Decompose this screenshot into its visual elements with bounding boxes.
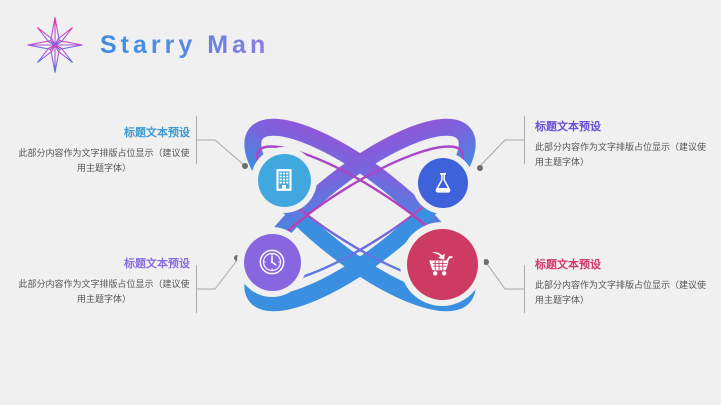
callout-title: 标题文本预设 [18,257,190,272]
callout-separator-top-left [196,116,197,164]
orbit-diagram [200,78,520,353]
office-building-icon [258,154,311,207]
callout-body: 此部分内容作为文字排版占位显示（建议使用主题字体） [535,140,707,170]
clock-icon [244,234,301,291]
presentation-slide: Starry Man [0,0,721,405]
compass-star-icon [24,14,86,76]
callout-title: 标题文本预设 [18,126,190,141]
callout-body: 此部分内容作为文字排版占位显示（建议使用主题字体） [535,278,707,308]
callout-title: 标题文本预设 [535,258,707,273]
callout-title: 标题文本预设 [535,120,707,135]
shopping-cart-icon [407,229,478,300]
node-building[interactable] [251,147,317,213]
node-clock[interactable] [237,227,307,297]
callout-separator-top-right [524,116,525,164]
lab-flask-icon [418,158,468,208]
brand-title: Starry Man [100,33,269,58]
callout-separator-bottom-right [524,265,525,313]
callout-body: 此部分内容作为文字排版占位显示（建议使用主题字体） [18,277,190,307]
callout-body: 此部分内容作为文字排版占位显示（建议使用主题字体） [18,146,190,176]
callout-bottom-left: 标题文本预设 此部分内容作为文字排版占位显示（建议使用主题字体） [18,257,190,307]
node-cart[interactable] [400,222,484,306]
node-flask[interactable] [412,152,474,214]
callout-top-left: 标题文本预设 此部分内容作为文字排版占位显示（建议使用主题字体） [18,126,190,176]
callout-top-right: 标题文本预设 此部分内容作为文字排版占位显示（建议使用主题字体） [535,120,707,170]
callout-bottom-right: 标题文本预设 此部分内容作为文字排版占位显示（建议使用主题字体） [535,258,707,308]
brand-lockup: Starry Man [24,14,269,76]
callout-separator-bottom-left [196,265,197,313]
